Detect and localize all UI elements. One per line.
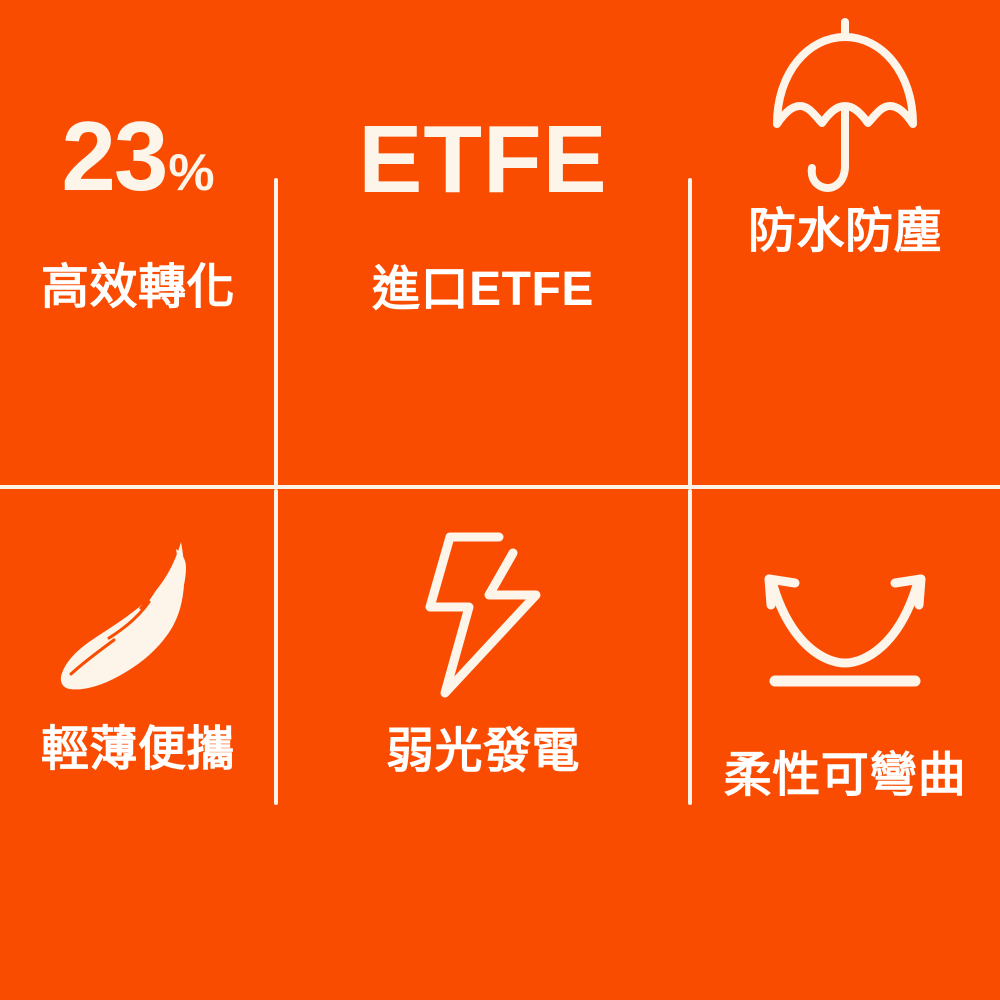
feature-cell-etfe[interactable]: ETFE 進口ETFE: [276, 0, 690, 487]
bend-flex-arrows-icon: [755, 571, 935, 691]
lightning-art: [423, 487, 543, 722]
etfe-headline: ETFE: [358, 112, 607, 208]
lightning-bolt-icon: [423, 531, 543, 699]
feature-grid: 23 % 高效轉化 ETFE 進口ETFE: [0, 0, 1000, 1000]
feather-icon: [53, 536, 223, 701]
umbrella-icon: [765, 16, 925, 201]
feature-cell-waterproof[interactable]: 防水防塵: [690, 0, 1000, 487]
feature-cell-efficiency[interactable]: 23 % 高效轉化: [0, 0, 276, 487]
etfe-headline-art: ETFE: [358, 0, 607, 260]
feature-label-efficiency: 高效轉化: [41, 264, 235, 312]
feature-label-etfe: 進口ETFE: [372, 266, 594, 314]
feather-art: [53, 487, 223, 726]
umbrella-art: [765, 0, 925, 208]
efficiency-stat: 23 %: [61, 107, 214, 205]
efficiency-stat-art: 23 %: [61, 0, 214, 256]
feature-grid-panel: 23 % 高效轉化 ETFE 進口ETFE: [0, 0, 1000, 1000]
feature-label-waterproof: 防水防塵: [748, 208, 942, 256]
feature-label-flexible: 柔性可彎曲: [724, 752, 967, 800]
feature-cell-lightweight[interactable]: 輕薄便攜: [0, 487, 276, 1000]
feature-label-lightweight: 輕薄便攜: [41, 726, 235, 774]
efficiency-stat-unit: %: [168, 147, 214, 199]
feature-label-lowlight: 弱光發電: [386, 728, 580, 776]
feature-cell-flexible[interactable]: 柔性可彎曲: [690, 487, 1000, 1000]
feature-cell-lowlight[interactable]: 弱光發電: [276, 487, 690, 1000]
flex-art: [755, 487, 935, 738]
efficiency-stat-number: 23: [61, 107, 166, 205]
